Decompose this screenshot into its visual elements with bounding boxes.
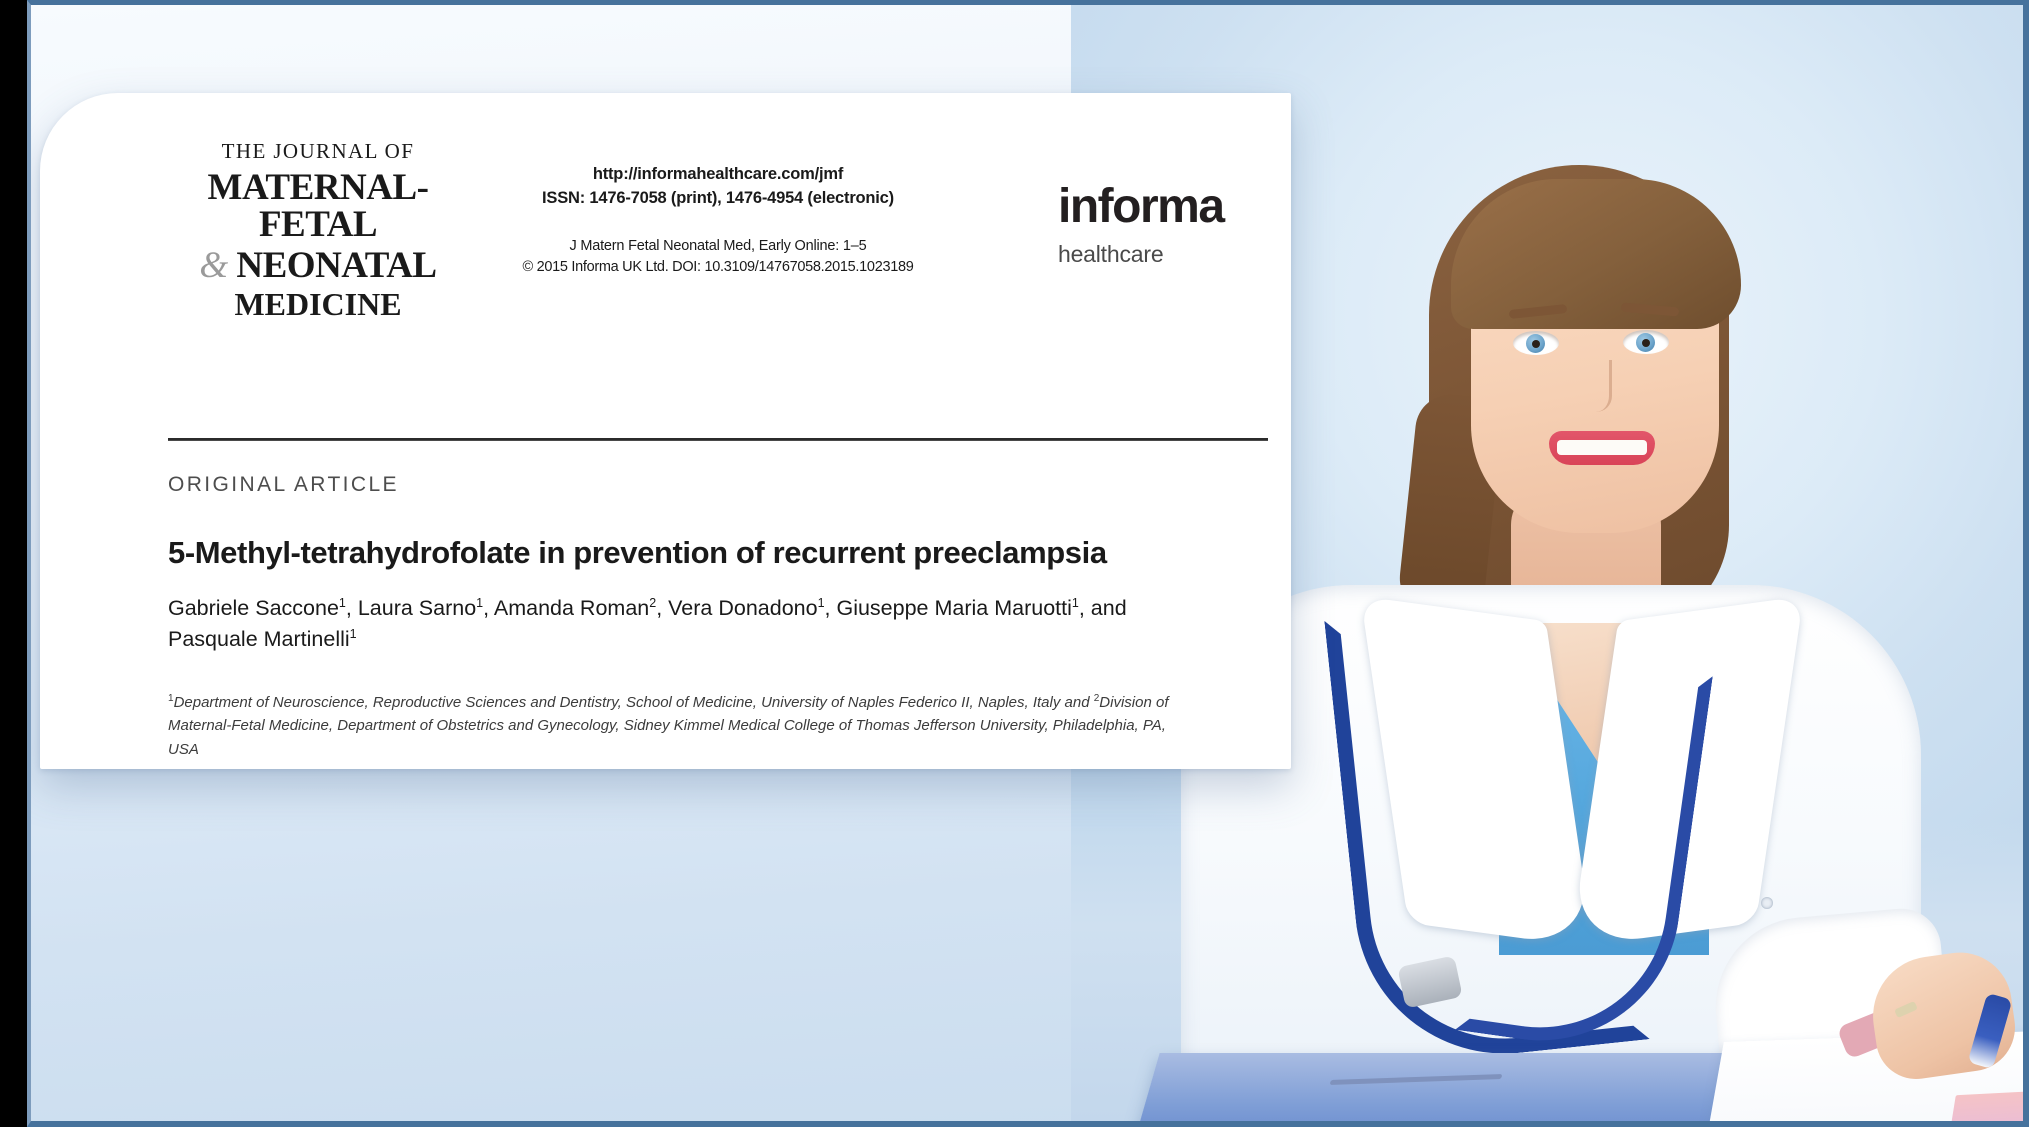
left-black-bar (0, 0, 27, 1127)
masthead-line-3: & NEONATAL (168, 247, 468, 284)
hair-front (1451, 179, 1741, 329)
author-2: , Laura Sarno (346, 596, 476, 620)
author-4-affil-marker: 1 (818, 596, 825, 610)
author-3: , Amanda Roman (483, 596, 649, 620)
author-4: , Vera Donadono (656, 596, 817, 620)
masthead-line-1: THE JOURNAL OF (168, 141, 468, 162)
journal-copyright-doi: © 2015 Informa UK Ltd. DOI: 10.3109/1476… (498, 259, 938, 275)
journal-logo-title: THE JOURNAL OF MATERNAL-FETAL & NEONATAL… (168, 141, 468, 320)
masthead-divider (168, 438, 1268, 441)
page-title: 5-Methyl-tetrahydrofolate in prevention … (168, 535, 1258, 571)
author-5-affil-marker: 1 (1072, 596, 1079, 610)
iris-right (1636, 333, 1655, 352)
teeth (1557, 440, 1647, 455)
eye-left (1513, 331, 1559, 355)
masthead-ampersand: & (199, 245, 227, 286)
pupil-left (1532, 340, 1540, 348)
masthead-line-3-text: NEONATAL (236, 245, 436, 286)
affiliations: 1Department of Neuroscience, Reproductiv… (168, 691, 1198, 761)
author-1: Gabriele Saccone (168, 596, 339, 620)
iris-left (1526, 334, 1545, 353)
publisher-subtitle: healthcare (1058, 241, 1291, 268)
masthead-line-2: MATERNAL-FETAL (168, 169, 468, 243)
journal-article-card: THE JOURNAL OF MATERNAL-FETAL & NEONATAL… (40, 93, 1291, 769)
author-6-affil-marker: 1 (350, 627, 357, 641)
author-conjunction: , and (1079, 596, 1127, 620)
masthead-line-4: MEDICINE (168, 288, 468, 320)
pupil-right (1642, 339, 1650, 347)
journal-citation: J Matern Fetal Neonatal Med, Early Onlin… (498, 238, 938, 254)
journal-issn: ISSN: 1476-7058 (print), 1476-4954 (elec… (498, 189, 938, 208)
author-list: Gabriele Saccone1, Laura Sarno1, Amanda … (168, 593, 1168, 655)
author-5: , Giuseppe Maria Maruotti (825, 596, 1072, 620)
smiling-mouth (1549, 431, 1655, 465)
informa-healthcare-logo: informa healthcare (1058, 183, 1291, 268)
slide-frame: THE JOURNAL OF MATERNAL-FETAL & NEONATAL… (27, 0, 2029, 1127)
screenshot-stage: THE JOURNAL OF MATERNAL-FETAL & NEONATAL… (0, 0, 2029, 1127)
affiliation-1-text: Department of Neuroscience, Reproductive… (174, 694, 1090, 711)
publisher-name: informa (1058, 183, 1291, 231)
journal-url[interactable]: http://informahealthcare.com/jmf (498, 165, 938, 184)
author-6: Pasquale Martinelli (168, 627, 350, 651)
eye-right (1623, 330, 1669, 354)
nose (1583, 360, 1612, 412)
article-type-kicker: ORIGINAL ARTICLE (168, 473, 399, 497)
journal-masthead: THE JOURNAL OF MATERNAL-FETAL & NEONATAL… (168, 141, 1268, 311)
journal-identifiers: http://informahealthcare.com/jmf ISSN: 1… (498, 165, 938, 275)
author-1-affil-marker: 1 (339, 596, 346, 610)
blue-binder (1122, 1053, 1779, 1121)
coat-button-upper (1761, 897, 1773, 909)
